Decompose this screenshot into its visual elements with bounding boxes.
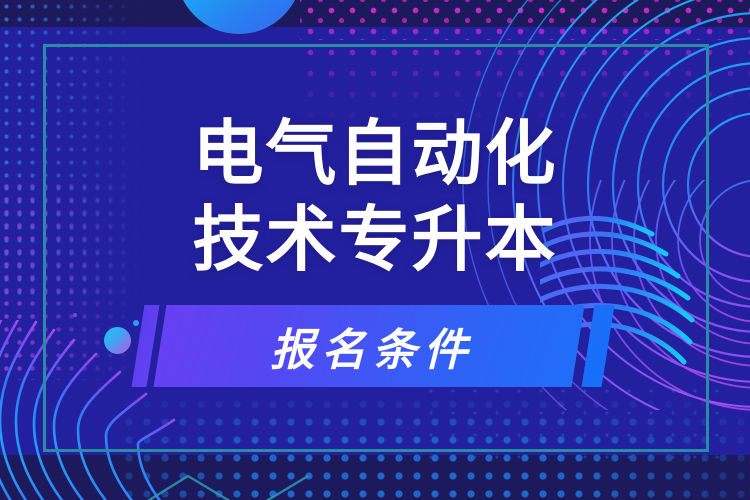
banner-stripe-right bbox=[582, 305, 615, 387]
subtitle-text: 报名条件 bbox=[160, 305, 578, 387]
gradient-dot-icon bbox=[104, 327, 131, 354]
poster-canvas: 电气自动化 技术专升本 报名条件 bbox=[0, 0, 750, 500]
subtitle-banner: 报名条件 bbox=[128, 305, 648, 387]
headline-line-2: 技术专升本 bbox=[0, 198, 750, 284]
headline-line-1: 电气自动化 bbox=[0, 112, 750, 198]
small-dot-secondary-icon bbox=[73, 313, 77, 317]
halftone-dots-top-right-dense bbox=[300, 0, 750, 40]
page-title: 电气自动化 技术专升本 bbox=[0, 112, 750, 284]
